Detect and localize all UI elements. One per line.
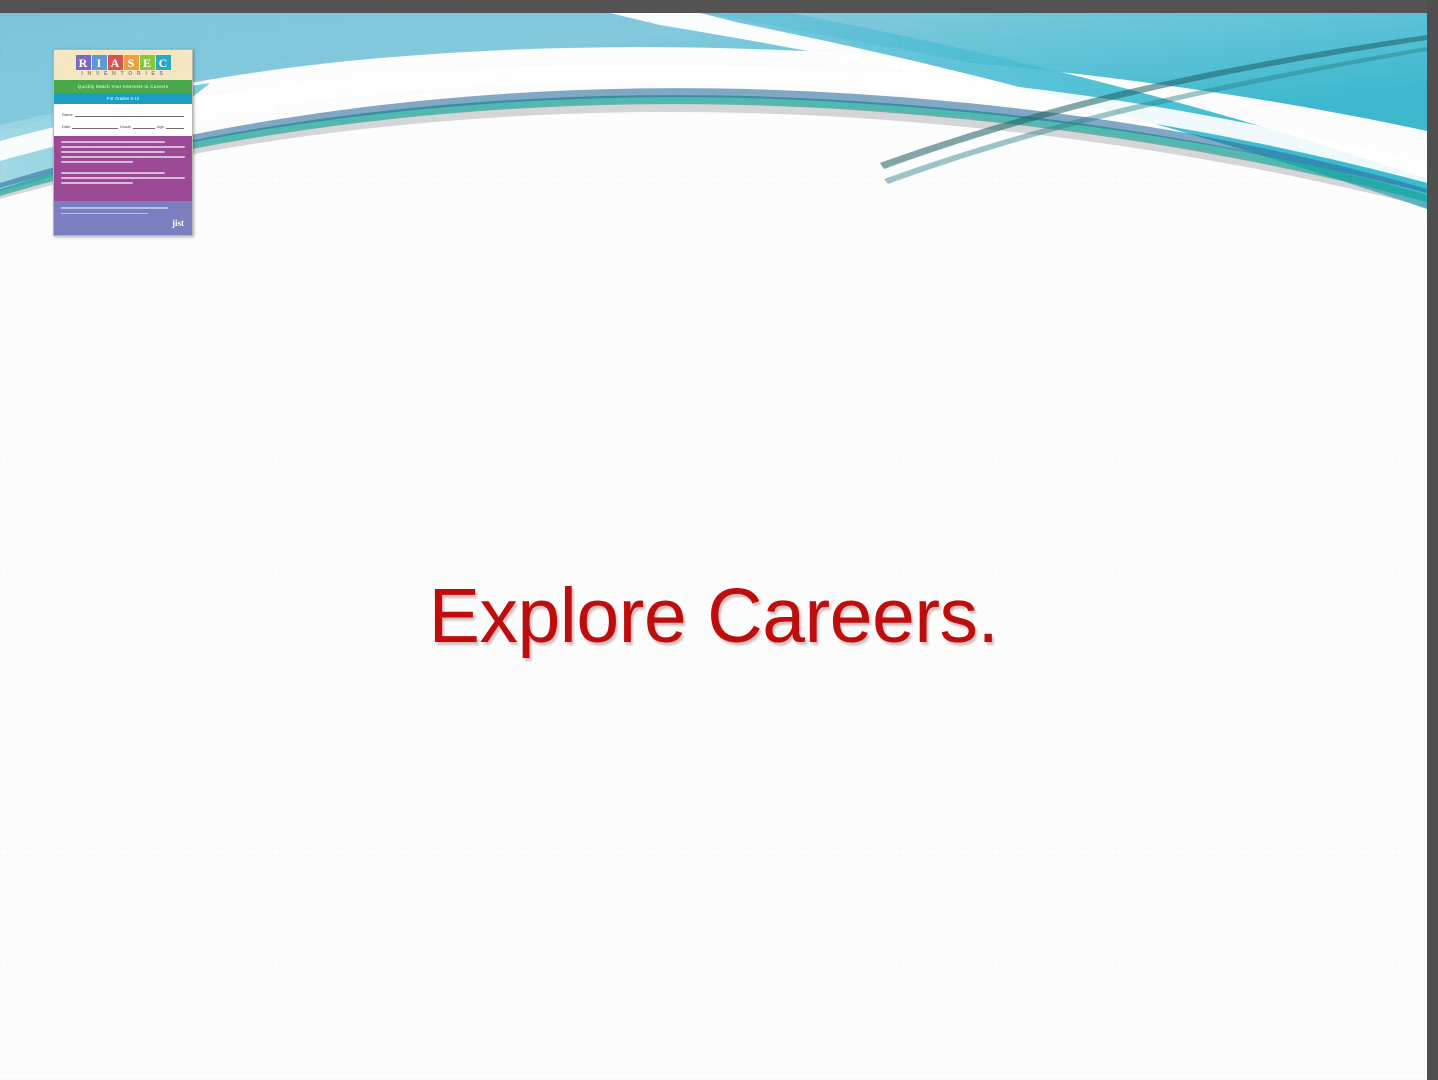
booklet-green-tagline: Quickly Match Your Interests to Careers [54, 80, 192, 93]
booklet-footer-line [61, 213, 148, 215]
booklet-text-line [61, 177, 185, 179]
riasec-letter-c: C [156, 55, 171, 70]
page-title: Explore Careers. [429, 573, 999, 659]
viewer-top-chrome [0, 0, 1438, 13]
riasec-letter-r: R [76, 55, 91, 70]
booklet-field-label-age: Age [157, 124, 164, 129]
riasec-booklet-thumbnail[interactable]: R I A S E C I N V E N T O R I E S Quickl… [53, 49, 193, 236]
title-block: Explore Careers. [0, 573, 1427, 659]
booklet-form-area: Name Date Grade Age [54, 104, 192, 136]
booklet-field-label-grade: Grade [120, 124, 131, 129]
booklet-text-line [61, 151, 165, 153]
booklet-description-block [54, 136, 192, 201]
booklet-field-label-date: Date [62, 124, 70, 129]
presentation-slide: R I A S E C I N V E N T O R I E S Quickl… [0, 13, 1427, 1080]
booklet-field-rule [75, 111, 184, 117]
booklet-text-line [61, 146, 185, 148]
slide-viewer: R I A S E C I N V E N T O R I E S Quickl… [0, 0, 1438, 1080]
booklet-inventories-label: I N V E N T O R I E S [58, 71, 188, 77]
header-swoosh-artwork [0, 13, 1427, 243]
booklet-teal-grade-band: For Grades 6-12 [54, 93, 192, 104]
booklet-masthead: R I A S E C I N V E N T O R I E S [54, 50, 192, 80]
booklet-field-label-name: Name [62, 112, 73, 117]
booklet-field-rule [133, 123, 155, 129]
publisher-logo-mark: jist [172, 219, 184, 228]
booklet-footer-band: jist [54, 201, 192, 235]
booklet-footer-line [61, 207, 168, 209]
booklet-text-line [61, 182, 133, 184]
riasec-letter-blocks: R I A S E C [58, 55, 188, 70]
booklet-field-rule [166, 123, 184, 129]
booklet-field-rule [72, 123, 117, 129]
booklet-form-row: Date Grade Age [62, 123, 184, 129]
viewer-right-chrome [1427, 0, 1438, 1080]
booklet-text-line [61, 172, 165, 174]
booklet-form-row: Name [62, 111, 184, 117]
riasec-letter-a: A [108, 55, 123, 70]
booklet-text-gap [61, 166, 185, 169]
booklet-text-line [61, 141, 165, 143]
riasec-letter-e: E [140, 55, 155, 70]
booklet-text-line [61, 161, 133, 163]
riasec-letter-i: I [92, 55, 107, 70]
riasec-letter-s: S [124, 55, 139, 70]
booklet-text-line [61, 156, 185, 158]
